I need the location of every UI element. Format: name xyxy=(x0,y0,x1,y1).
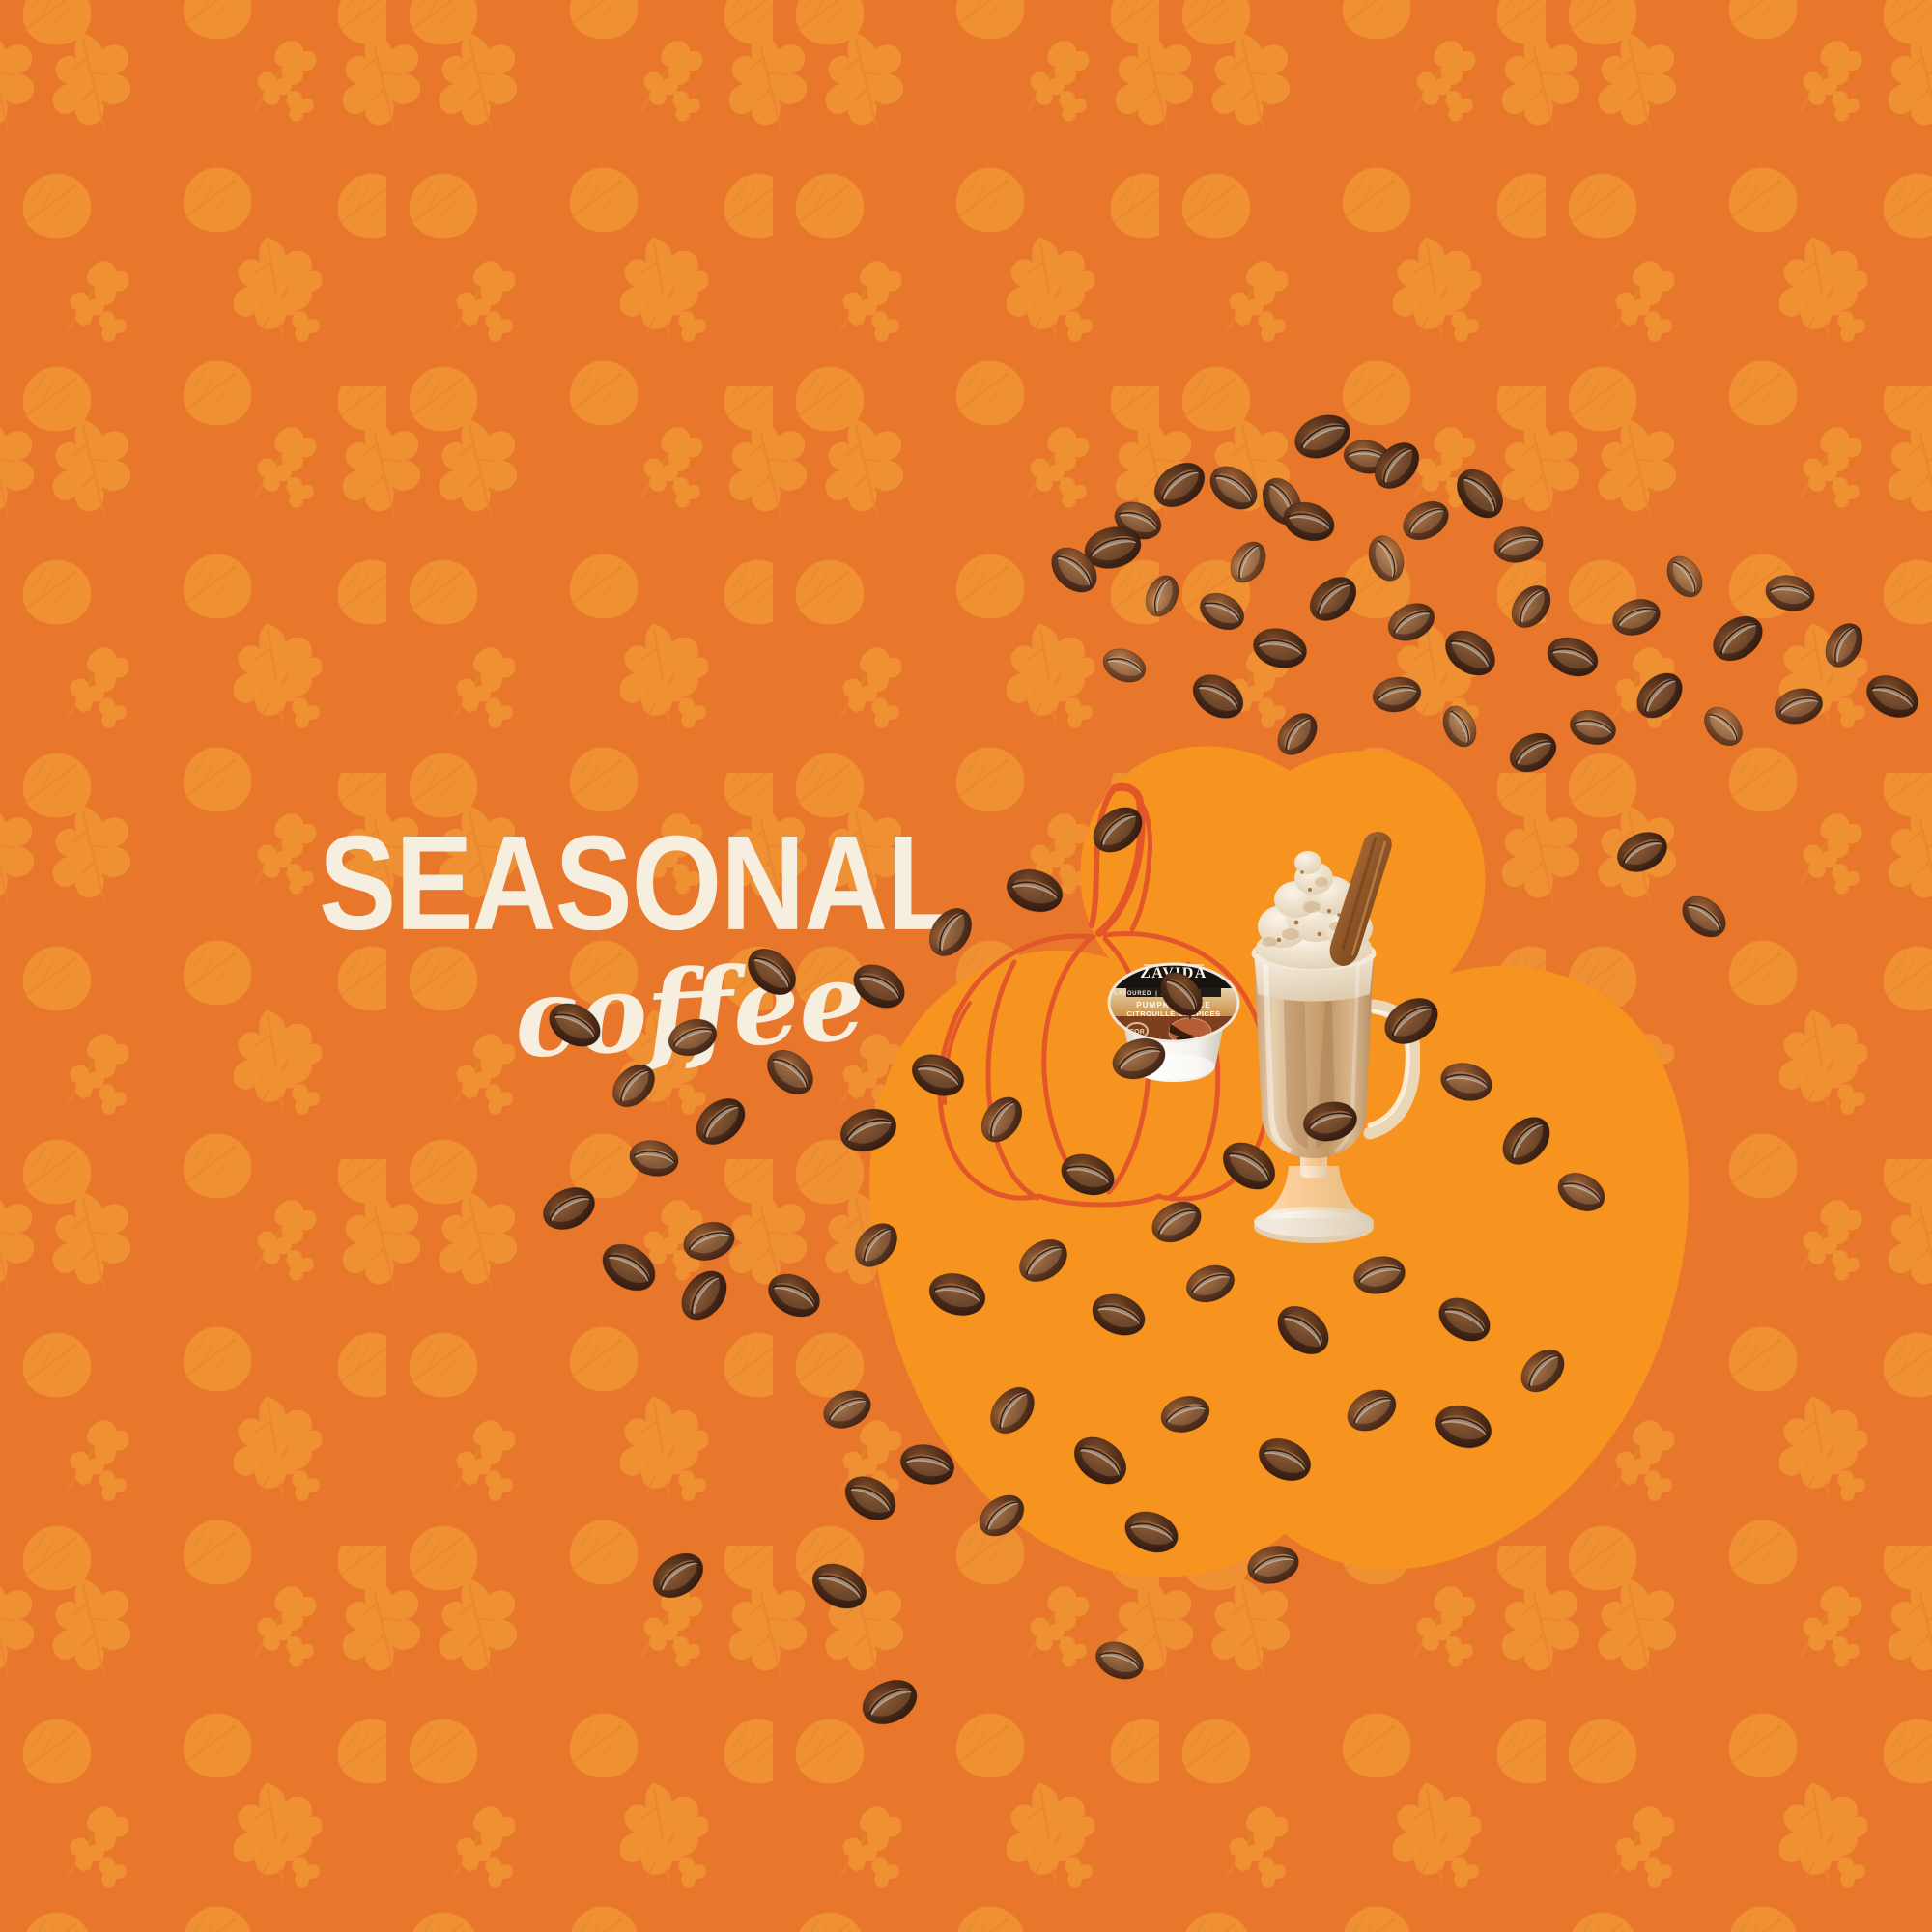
pod-flavoured-en-label: FLAVOURED xyxy=(1110,991,1151,997)
page-title: SEASONAL xyxy=(319,816,957,951)
pod-brand-label: ZAVIDA xyxy=(1140,965,1207,981)
seasonal-coffee-poster: SEASONAL coffee xyxy=(0,0,1932,1932)
pod-product-name-fr: CITROUILLE ET ÉPICES xyxy=(1127,1009,1221,1018)
headline-block: SEASONAL coffee xyxy=(319,816,1053,1067)
pod-flavoured-fr-label: AROMATISÉ xyxy=(1161,989,1202,997)
headline-script-subtitle: coffee xyxy=(512,948,867,1074)
zavida-k-cup-pod: COR ZAVIDA FLAVOURED | AROMATISÉ PUMPKIN… xyxy=(1101,956,1246,1087)
pod-product-name-en: PUMPKIN SPICE xyxy=(1136,1001,1210,1009)
